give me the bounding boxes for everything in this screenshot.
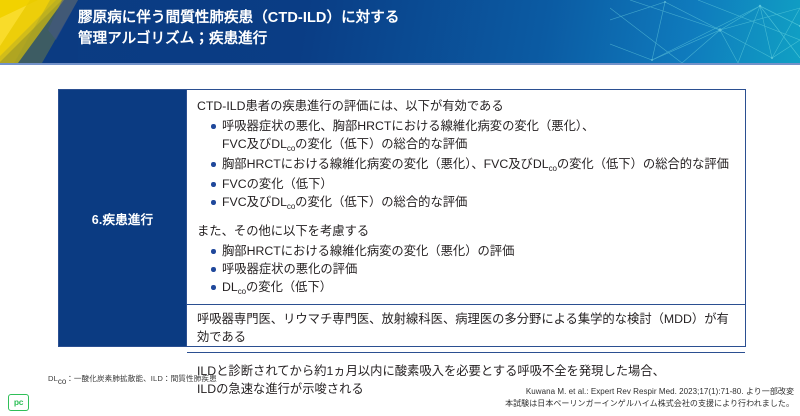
- list-item: 胸部HRCTにおける線維化病変の変化（悪化）、FVC及びDLcoの変化（低下）の…: [211, 155, 735, 175]
- evaluation-lead-1: CTD-ILD患者の疾患進行の評価には、以下が有効である: [197, 97, 735, 115]
- abbreviation-note: DLco：一酸化炭素肺拡散能、ILD：間質性肺疾患: [48, 373, 217, 384]
- evaluation-bullet-list-1: 呼吸器症状の悪化、胸部HRCTにおける線維化病変の変化（悪化）、FVC及びDLc…: [197, 117, 735, 213]
- citation-block: Kuwana M. et al.: Expert Rev Respir Med.…: [505, 386, 794, 409]
- list-item: FVC及びDLcoの変化（低下）の総合的な評価: [211, 193, 735, 213]
- evaluation-cell: CTD-ILD患者の疾患進行の評価には、以下が有効である 呼吸器症状の悪化、胸部…: [187, 90, 745, 304]
- list-item: 胸部HRCTにおける線維化病変の変化（悪化）の評価: [211, 242, 735, 260]
- mdd-text: 呼吸器専門医、リウマチ専門医、放射線科医、病理医の多分野による集学的な検討（MD…: [197, 310, 735, 346]
- list-item: 呼吸器症状の悪化、胸部HRCTにおける線維化病変の変化（悪化）、FVC及びDLc…: [211, 117, 735, 155]
- pc-logo: pc: [8, 394, 29, 411]
- evaluation-lead-2: また、その他に以下を考慮する: [197, 222, 735, 240]
- list-item: 呼吸器症状の悪化の評価: [211, 260, 735, 278]
- pc-logo-text: pc: [14, 398, 23, 407]
- header-chevron-decoration: [0, 0, 78, 63]
- evaluation-bullet-list-2: 胸部HRCTにおける線維化病変の変化（悪化）の評価 呼吸器症状の悪化の評価 DL…: [197, 242, 735, 298]
- citation-line-2: 本試験は日本ベーリンガーインゲルハイム株式会社の支援により行われました。: [505, 398, 794, 410]
- section-label-panel: 6.疾患進行: [59, 90, 186, 346]
- section-label-text: 6.疾患進行: [92, 209, 154, 228]
- list-item: FVCの変化（低下）: [211, 175, 735, 193]
- slide-header: 膠原病に伴う間質性肺疾患（CTD-ILD）に対する 管理アルゴリズム；疾患進行: [0, 0, 800, 63]
- list-item: DLcoの変化（低下）: [211, 278, 735, 298]
- citation-line-1: Kuwana M. et al.: Expert Rev Respir Med.…: [505, 386, 794, 398]
- mdd-cell: 呼吸器専門医、リウマチ専門医、放射線科医、病理医の多分野による集学的な検討（MD…: [187, 304, 745, 352]
- header-underline: [0, 63, 800, 65]
- page-title: 膠原病に伴う間質性肺疾患（CTD-ILD）に対する 管理アルゴリズム；疾患進行: [78, 8, 698, 50]
- table-body: CTD-ILD患者の疾患進行の評価には、以下が有効である 呼吸器症状の悪化、胸部…: [186, 90, 745, 346]
- algorithm-table: 6.疾患進行 CTD-ILD患者の疾患進行の評価には、以下が有効である 呼吸器症…: [58, 89, 746, 347]
